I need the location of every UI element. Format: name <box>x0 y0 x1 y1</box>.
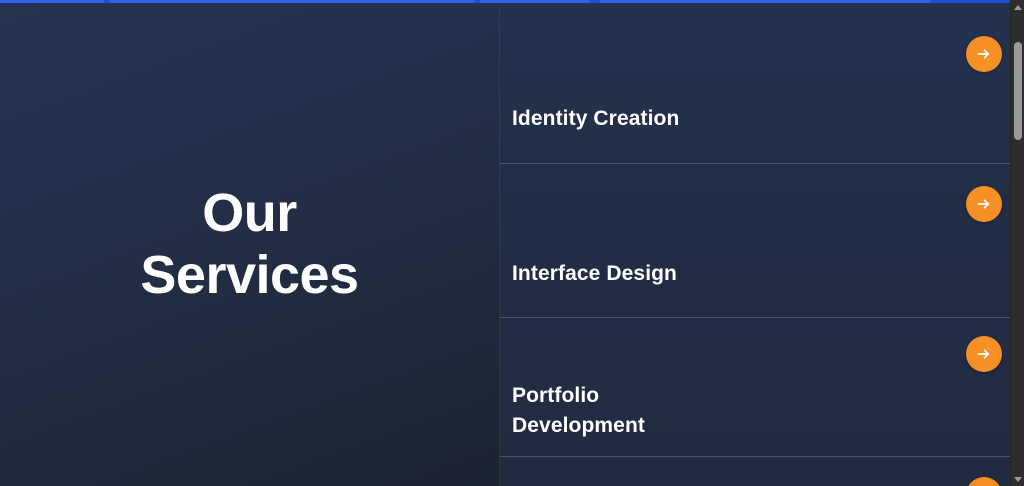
arrow-right-icon <box>976 46 992 62</box>
loading-bar-segment <box>0 0 104 3</box>
services-list: Identity CreationInterface DesignPortfol… <box>500 0 1010 486</box>
scrollbar-thumb[interactable] <box>1014 42 1022 140</box>
top-loading-bar <box>0 0 1024 3</box>
chevron-up-icon <box>1014 5 1022 10</box>
service-arrow-button[interactable] <box>966 477 1002 486</box>
vertical-scrollbar[interactable] <box>1010 0 1024 486</box>
arrow-right-icon <box>976 346 992 362</box>
service-row[interactable] <box>500 457 1010 486</box>
loading-bar-segment <box>110 0 475 3</box>
hero-inner: Our Services <box>140 183 358 310</box>
service-label: Portfolio Development <box>500 381 645 441</box>
page-title: Our Services <box>140 183 358 306</box>
page-root: Our Services Identity CreationInterface … <box>0 0 1024 486</box>
scrollbar-up-button[interactable] <box>1011 0 1024 14</box>
hero-panel: Our Services <box>0 8 500 486</box>
arrow-right-icon <box>976 196 992 212</box>
service-arrow-button[interactable] <box>966 336 1002 372</box>
service-label: Identity Creation <box>500 104 679 134</box>
loading-bar-segment <box>600 0 930 3</box>
service-arrow-button[interactable] <box>966 186 1002 222</box>
chevron-down-icon <box>1014 477 1022 482</box>
service-arrow-button[interactable] <box>966 36 1002 72</box>
service-row[interactable]: Interface Design <box>500 164 1010 318</box>
loading-bar-segment <box>480 0 590 3</box>
service-label: Interface Design <box>500 259 677 289</box>
service-row[interactable]: Portfolio Development <box>500 318 1010 457</box>
service-row[interactable]: Identity Creation <box>500 0 1010 164</box>
scrollbar-down-button[interactable] <box>1011 472 1024 486</box>
